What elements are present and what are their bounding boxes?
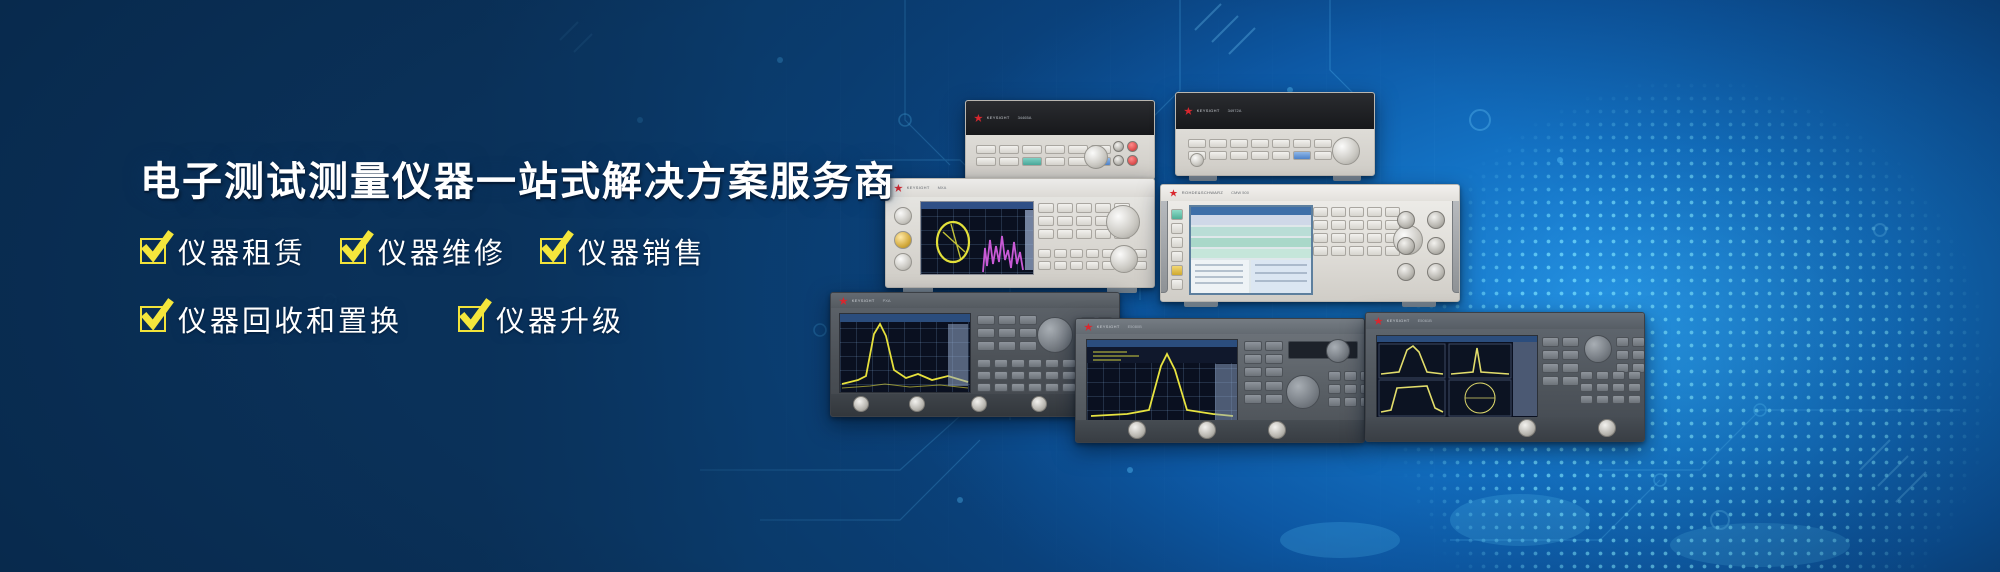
service-item-label: 仪器销售 [578,230,706,272]
brand-label: KEYSIGHT [1097,324,1120,329]
instrument-digital-multimeter-right: KEYSIGHT34972A [1175,92,1375,176]
instrument-signal-analyzer-mxa: KEYSIGHTMXA [885,178,1155,288]
service-item-label: 仪器维修 [378,230,506,272]
instrument-digital-multimeter-left: KEYSIGHT34465A [965,100,1155,180]
brand-label: KEYSIGHT [1197,109,1220,114]
instrument-network-analyzer-right: KEYSIGHTE5061B [1365,312,1645,442]
service-item-label: 仪器升级 [496,298,624,340]
promo-banner: KEYSIGHT34465A KEYSIGHT34972A [0,0,2000,572]
service-row-1: 仪器租赁 仪器维修 仪器销售 [140,230,900,272]
service-item-label: 仪器租赁 [178,230,306,272]
model-label: E5061B [1418,319,1432,324]
tester-display [1189,205,1313,295]
banner-copy: 电子测试测量仪器一站式解决方案服务商 仪器租赁 仪器维修 [140,160,900,366]
analyzer-display [920,201,1034,275]
service-list: 仪器租赁 仪器维修 仪器销售 [140,230,900,340]
brand-label: ROHDE&SCHWARZ [1182,191,1223,196]
service-item-repair[interactable]: 仪器维修 [340,230,506,272]
model-label: MXA [938,186,947,191]
service-item-label: 仪器回收和置换 [178,298,402,340]
model-label: CMW 500 [1231,191,1249,196]
check-box-icon [458,306,484,332]
service-row-2: 仪器回收和置换 仪器升级 [140,298,900,340]
check-box-icon [140,306,166,332]
brand-label: KEYSIGHT [907,186,930,191]
service-item-rental[interactable]: 仪器租赁 [140,230,306,272]
page-title: 电子测试测量仪器一站式解决方案服务商 [140,160,900,204]
instrument-network-analyzer-center: KEYSIGHTE5080B [1075,318,1365,443]
check-box-icon [540,238,566,264]
brand-label: KEYSIGHT [1387,319,1410,324]
model-label: 34465A [1018,116,1032,121]
service-item-recycling[interactable]: 仪器回收和置换 [140,298,402,340]
model-label: E5080B [1128,324,1142,329]
model-label: 34972A [1228,109,1242,114]
check-box-icon [340,238,366,264]
instrument-cluster: KEYSIGHT34465A KEYSIGHT34972A [820,80,1940,500]
brand-label: KEYSIGHT [987,116,1010,121]
instrument-radio-communication-tester: ROHDE&SCHWARZCMW 500 [1160,184,1460,302]
network-analyzer-display [1086,339,1238,423]
check-box-icon [140,238,166,264]
service-item-sales[interactable]: 仪器销售 [540,230,706,272]
vna-display [1376,335,1538,419]
service-item-upgrade[interactable]: 仪器升级 [458,298,624,340]
